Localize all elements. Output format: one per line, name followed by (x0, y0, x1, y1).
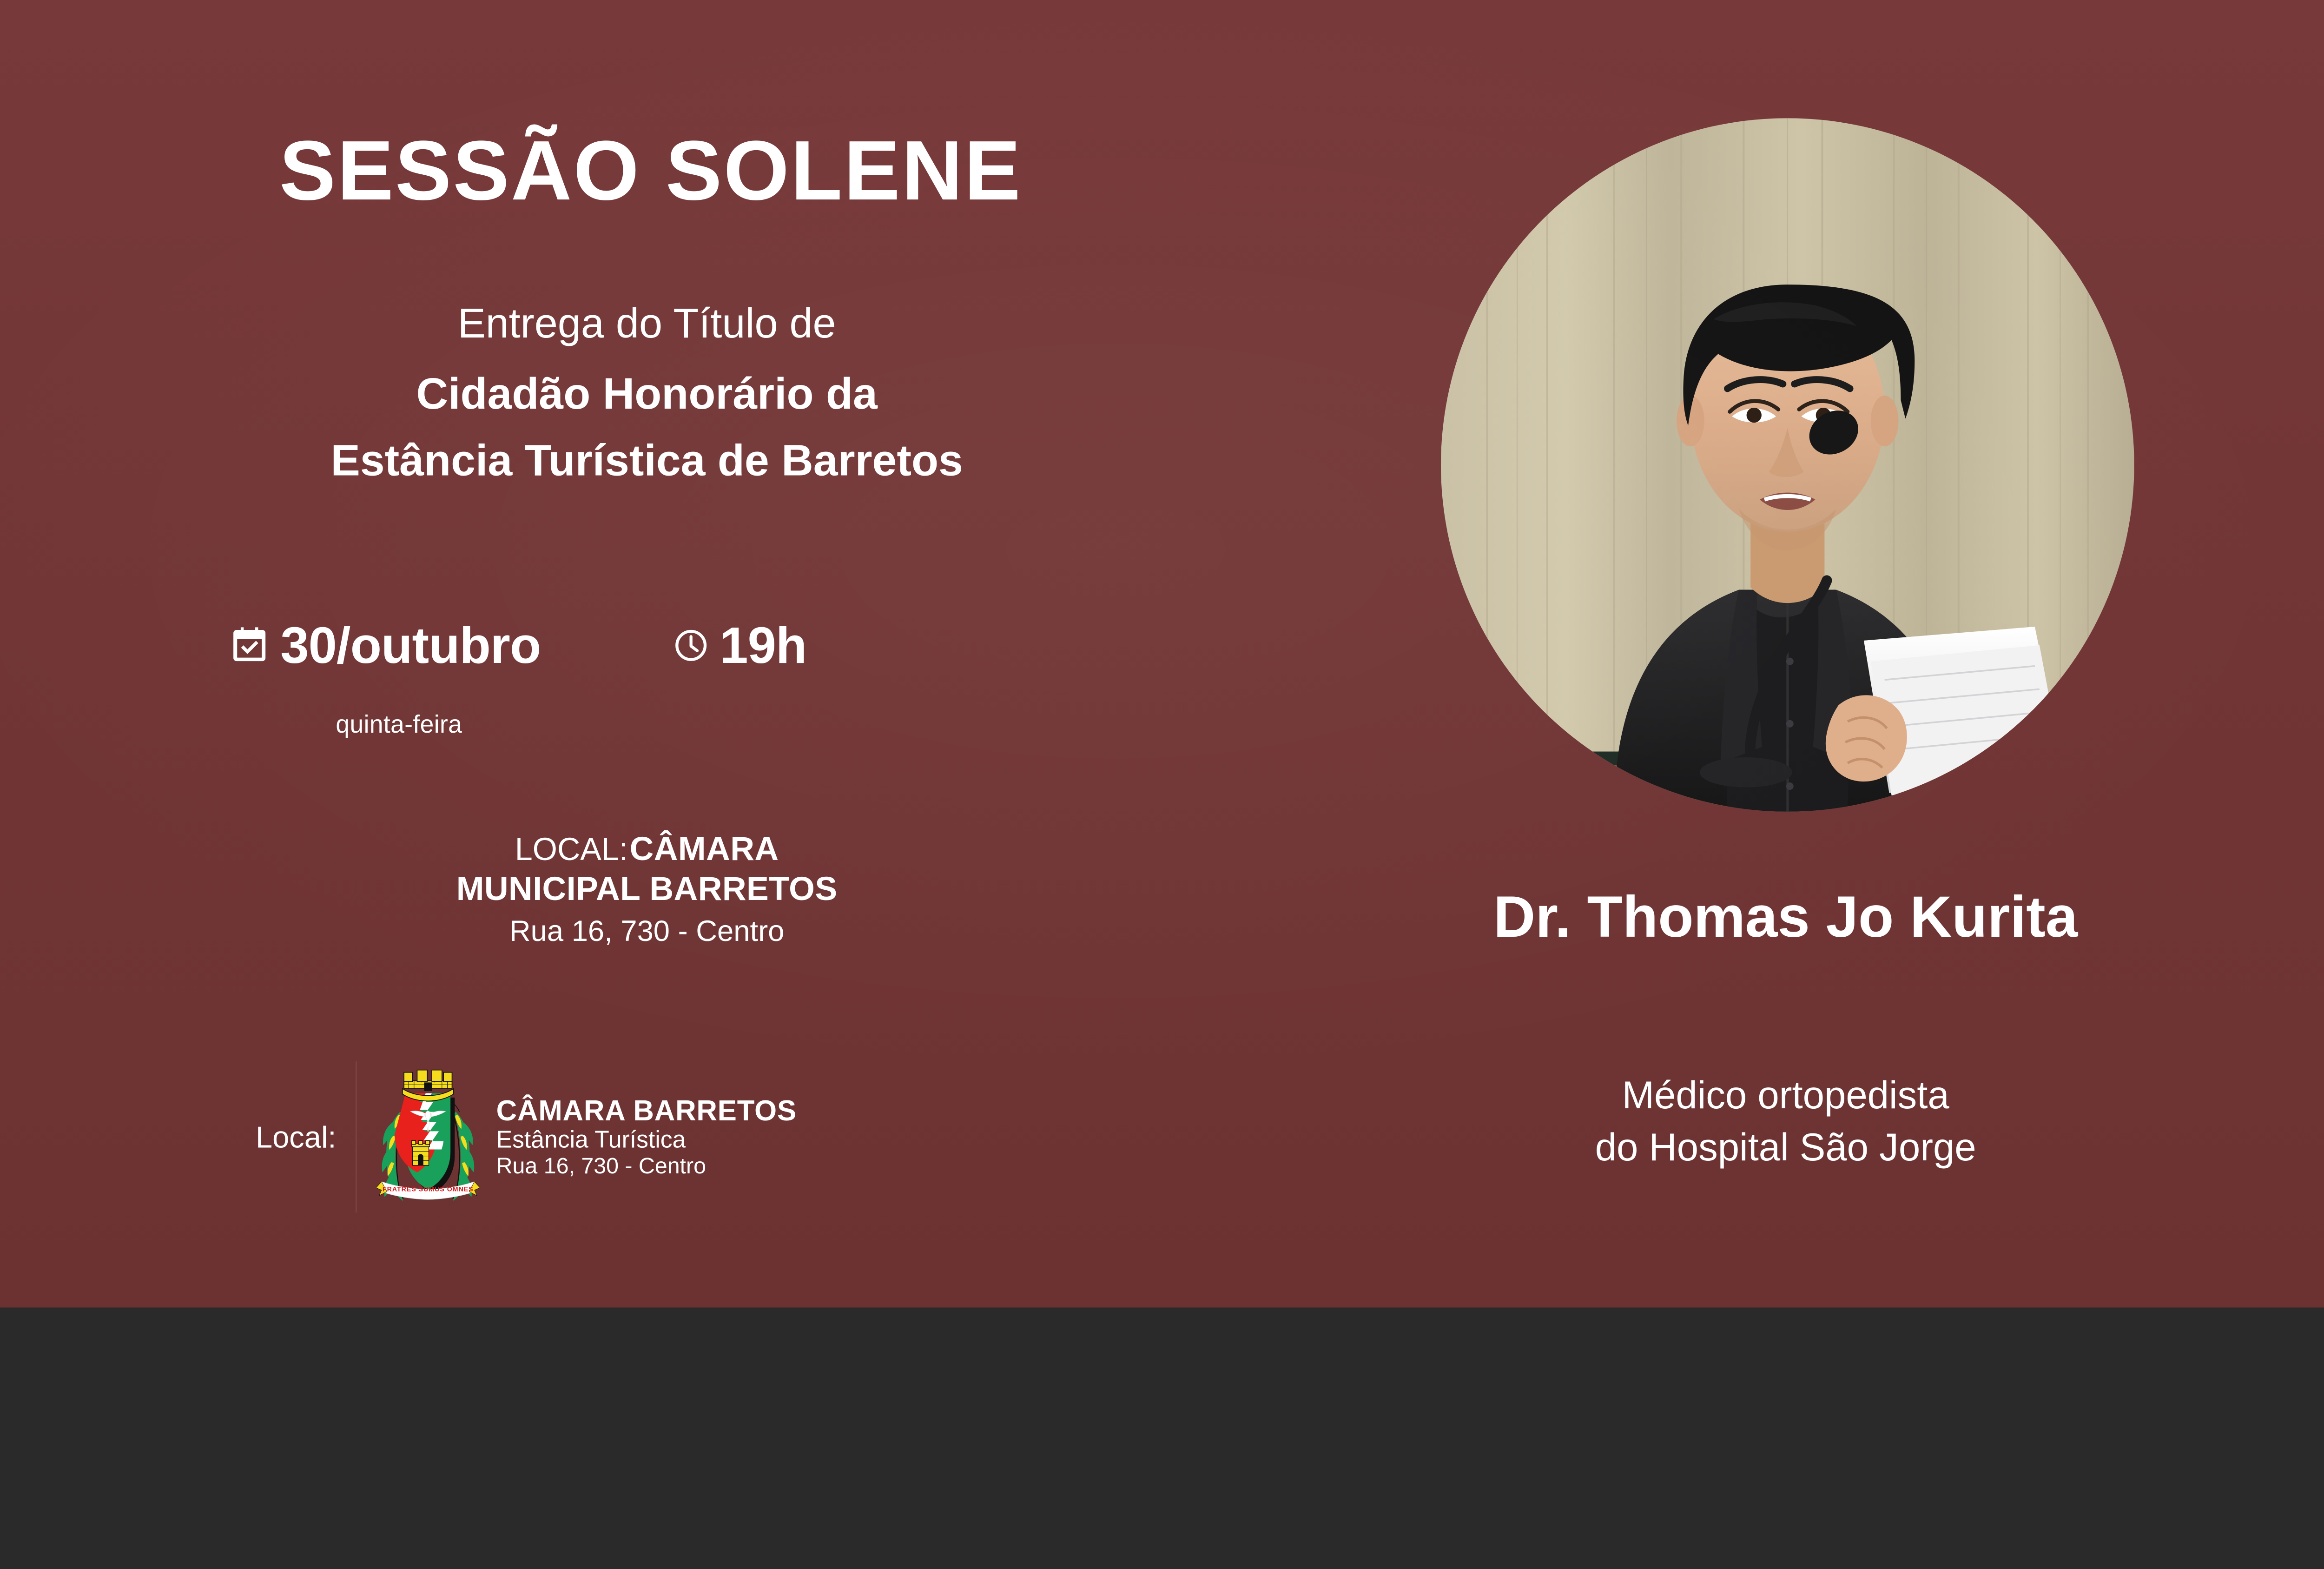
page-title: SESSÃO SOLENE (0, 128, 1301, 214)
event-datetime-row: 30/outubro 19h (229, 620, 807, 671)
event-weekday: quinta-feira (229, 710, 569, 739)
event-date-text: 30/outubro (280, 620, 541, 671)
venue-address: Rua 16, 730 - Centro (0, 914, 1294, 948)
venue-label: LOCAL: (515, 832, 628, 867)
poster-left-column: SESSÃO SOLENE Entrega do Título de Cidad… (0, 0, 1356, 1308)
venue-primary-row: LOCAL: CÂMARA (0, 829, 1294, 869)
clock-icon (673, 627, 710, 664)
subtitle-line-2: Cidadão Honorário da (0, 368, 1294, 420)
barretos-coat-of-arms-icon: FRATRES SUMUS OMNES (370, 1066, 486, 1209)
event-date: 30/outubro (229, 620, 541, 671)
lockup-org-line-1: CÂMARA BARRETOS (496, 1095, 797, 1126)
honoree-role-line-1: Médico ortopedista (1325, 1069, 2246, 1121)
honoree-role-line-2: do Hospital São Jorge (1325, 1121, 2246, 1173)
honoree-name: Dr. Thomas Jo Kurita (1325, 883, 2246, 950)
lockup-org-line-2: Estância Turística (496, 1126, 797, 1153)
svg-text:FRATRES SUMUS OMNES: FRATRES SUMUS OMNES (383, 1186, 474, 1193)
venue-name-line-1: CÂMARA (630, 830, 779, 867)
institution-lockup: Local: (256, 1061, 797, 1212)
honoree-photo (1441, 118, 2134, 812)
subtitle-line-1: Entrega do Título de (0, 298, 1294, 348)
lockup-org-line-3: Rua 16, 730 - Centro (496, 1153, 797, 1179)
lockup-text-block: CÂMARA BARRETOS Estância Turística Rua 1… (496, 1095, 797, 1179)
event-poster: SESSÃO SOLENE Entrega do Título de Cidad… (0, 0, 2324, 1308)
honoree-role: Médico ortopedista do Hospital São Jorge (1325, 1069, 2246, 1173)
calendar-check-icon (229, 624, 271, 666)
event-time-text: 19h (720, 620, 806, 671)
lockup-label: Local: (256, 1119, 336, 1155)
lockup-divider (356, 1061, 357, 1212)
event-time: 19h (673, 620, 807, 671)
venue-name-line-2: MUNICIPAL BARRETOS (0, 869, 1294, 909)
venue-block: LOCAL: CÂMARA MUNICIPAL BARRETOS Rua 16,… (0, 829, 1294, 948)
subtitle-line-3: Estância Turística de Barretos (0, 435, 1294, 487)
